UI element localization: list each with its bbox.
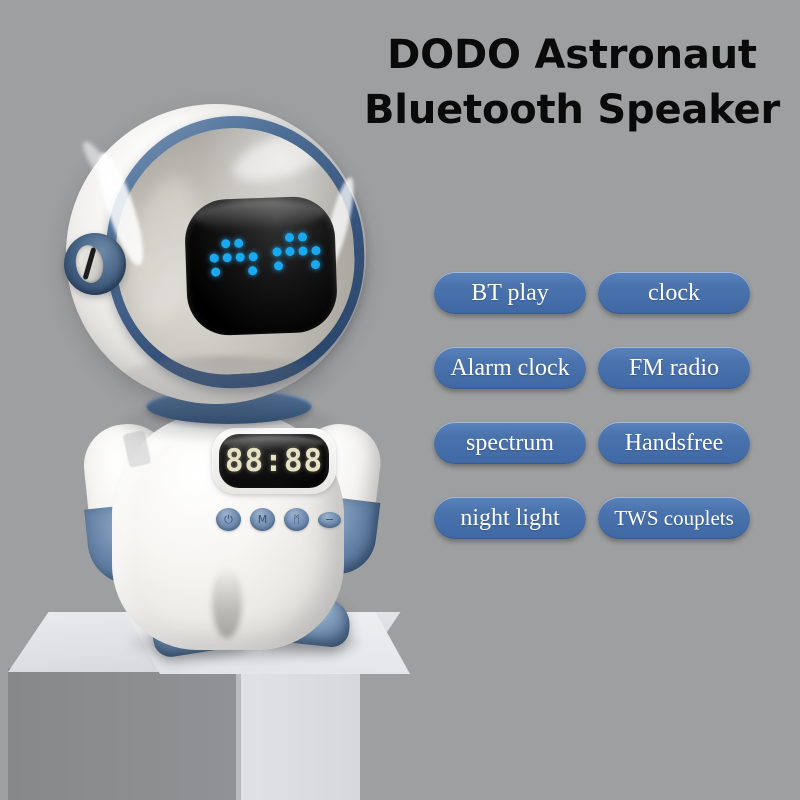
led-dot (210, 253, 219, 262)
led-dot (285, 247, 294, 256)
feature-badge-night-light[interactable]: night light (434, 497, 586, 539)
helmet-bottom-shading (120, 356, 330, 402)
feature-badge-clock[interactable]: clock (598, 272, 750, 314)
volume-down-icon[interactable]: − (318, 512, 341, 528)
mode-icon[interactable]: M (250, 508, 275, 531)
led-dot (285, 233, 294, 242)
feature-badge-handsfree[interactable]: Handsfree (598, 422, 750, 464)
clock-digits: 88:88 (219, 434, 329, 488)
face-led-display (184, 195, 339, 336)
feature-badge-fm-radio[interactable]: FM radio (598, 347, 750, 389)
feature-badge-alarm-clock[interactable]: Alarm clock (434, 347, 586, 389)
led-dot (248, 266, 257, 275)
led-dot (249, 252, 258, 261)
helmet-ear-piece (64, 233, 126, 295)
led-dot (211, 267, 220, 276)
led-dot (221, 239, 230, 248)
torso-leg-crease (212, 566, 242, 638)
feature-badge-bt-play[interactable]: BT play (434, 272, 586, 314)
led-dot (272, 247, 281, 256)
face-glass-reflection (194, 198, 325, 233)
power-icon[interactable]: ⏻ (216, 508, 241, 531)
led-dot (223, 253, 232, 262)
led-dot (234, 239, 243, 248)
led-dot (298, 232, 307, 241)
bluetooth-icon[interactable]: ᛗ (284, 508, 309, 531)
product-image-canvas: DODO Astronaut Bluetooth Speaker 88:88 (0, 0, 800, 800)
led-dot (298, 246, 307, 255)
control-button-row: ⏻ M ᛗ − (216, 508, 341, 531)
led-dot (274, 261, 283, 270)
led-dot (311, 246, 320, 255)
feature-badge-list: BT play clock Alarm clock FM radio spect… (434, 272, 774, 539)
led-dot (311, 260, 320, 269)
clock-display: 88:88 (219, 434, 329, 488)
led-dot (236, 253, 245, 262)
feature-badge-tws-couplets[interactable]: TWS couplets (598, 497, 750, 539)
feature-badge-spectrum[interactable]: spectrum (434, 422, 586, 464)
